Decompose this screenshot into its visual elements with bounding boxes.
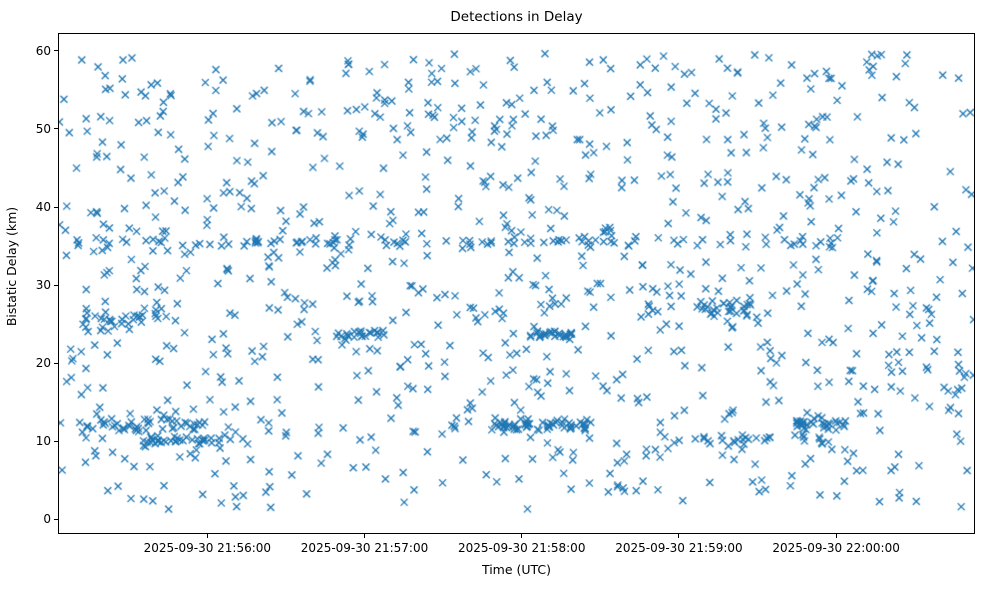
figure-canvas: Detections in Delay Bistatic Delay (km) … [0,0,989,590]
x-tick-label: 2025-09-30 21:58:00 [442,540,602,556]
x-tick-label: 2025-09-30 21:59:00 [599,540,759,556]
y-tick-label: 40 [12,199,58,215]
x-tick-label: 2025-09-30 21:57:00 [285,540,445,556]
x-tick-mark [836,534,837,538]
y-tick-label: 30 [12,277,58,293]
page-title: Detections in Delay [58,9,975,25]
y-tick-label: 20 [12,355,58,371]
x-tick-label: 2025-09-30 22:00:00 [756,540,916,556]
plot-axes [58,33,975,534]
y-tick-label: 50 [12,121,58,137]
x-axis-label: Time (UTC) [58,562,975,577]
scatter-plot-canvas [59,34,974,533]
x-tick-label: 2025-09-30 21:56:00 [127,540,287,556]
x-tick-mark [207,534,208,538]
x-tick-mark [678,534,679,538]
y-tick-label: 60 [12,43,58,59]
x-tick-mark [521,534,522,538]
x-tick-mark [364,534,365,538]
y-tick-label: 10 [12,433,58,449]
y-tick-label: 0 [12,511,58,527]
